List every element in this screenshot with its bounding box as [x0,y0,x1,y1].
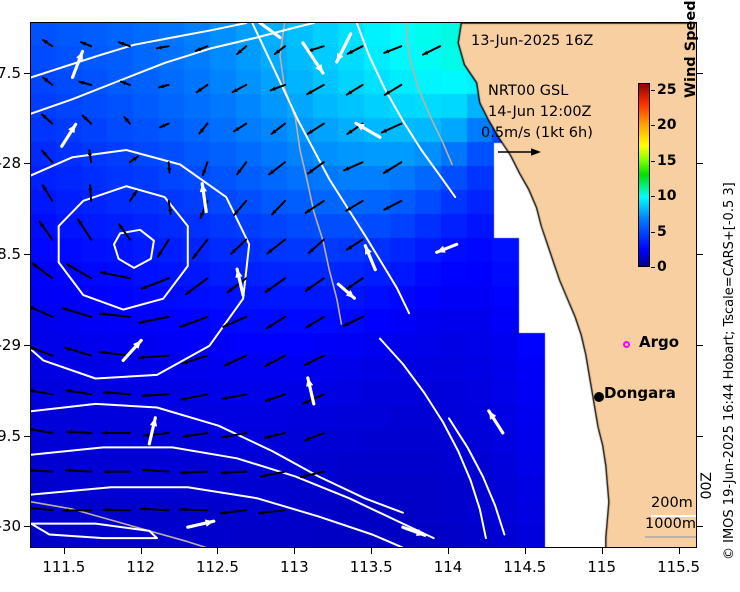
current-vector-head [143,393,148,397]
x-axis-tick-label: 114.5 [503,558,546,576]
y-axis-tick-label: -30 [0,517,21,535]
argo-marker-label: Argo [639,333,679,351]
colorbar: 0510152025 [638,83,650,267]
current-vector [31,470,52,471]
x-axis-tick-label: 113 [280,558,309,576]
current-vector-head [104,391,109,395]
ssh-contour-south [31,487,406,548]
right-axis-tick [697,345,703,346]
current-vector-head [271,87,276,91]
colorbar-tick [651,161,655,162]
current-vector-head [63,308,68,312]
colorbar-tick-label: 20 [657,117,676,133]
dongara-marker-label: Dongara [604,384,676,402]
colorbar-tick-label: 25 [657,82,676,98]
current-vector-head [139,355,144,359]
x-axis-tick [371,548,372,554]
right-axis-tick [697,163,703,164]
right-axis-clipped-label: 00Z [699,472,715,499]
current-vector-head [437,246,446,253]
x-axis-tick-label: 115 [587,558,616,576]
x-axis-tick [448,548,449,554]
ssh-contour-shelf [449,418,504,534]
depth-1000m-swatch [645,536,697,538]
current-vector [31,390,52,394]
current-vector-head [76,51,83,60]
y-axis-tick [24,73,30,74]
credit-label: © IMOS 19-Jun-2025 16:44 Hobart; Tscale=… [722,182,737,560]
dongara-marker[interactable] [594,392,604,402]
colorbar-tick [651,196,655,197]
x-axis-tick-label: 111.5 [42,558,85,576]
right-axis-tick [697,436,703,437]
colorbar-tick [651,232,655,233]
x-axis-tick [217,548,218,554]
current-vector [31,429,52,433]
x-axis-tick [525,548,526,554]
model-name-label: NRT00 GSL [488,83,568,99]
y-axis-tick [24,345,30,346]
map-overlay [31,23,697,548]
ssh-contour-shelf [380,339,486,538]
current-vector-head [103,431,108,435]
x-axis-tick-label: 114 [434,558,463,576]
current-vector-head [63,508,68,512]
current-vector-head [81,42,86,46]
x-axis-tick-label: 115.5 [657,558,700,576]
colorbar-tick [651,90,655,91]
contour-200m [357,23,455,197]
colorbar-gradient [638,83,650,267]
y-axis-tick-label: -28 [0,154,21,172]
current-vector-head [65,347,70,351]
y-axis-tick-label: -28.5 [0,245,21,263]
colorbar-tick-label: 5 [657,224,667,240]
y-axis-tick-label: -27.5 [0,64,21,82]
colorbar-tick-label: 0 [657,259,667,275]
x-axis-tick-label: 112 [126,558,155,576]
map-plot-area: 13-Jun-2025 16Z NRT00 GSL 14-Jun 12:00Z … [30,22,697,548]
ssh-contour-eddy-inner [114,230,154,268]
x-axis-tick-label: 113.5 [350,558,393,576]
colorbar-tick [651,267,655,268]
current-vector-head [180,508,185,512]
current-vector-head [121,81,126,85]
model-valid-time-label: 14-Jun 12:00Z [488,104,591,120]
depth-200m-label: 200m [651,495,693,511]
argo-marker[interactable] [623,341,630,348]
current-vector-head [105,470,110,474]
x-axis-tick [294,548,295,554]
current-vector-head [66,468,71,472]
current-vector-head [181,470,186,474]
current-vector-head [119,42,124,46]
current-vector-head [67,430,72,434]
x-axis-tick [64,548,65,554]
current-vector-head [180,323,185,327]
vector-scale-label: 0.5m/s (1kt 6h) [481,125,593,141]
x-axis-tick [141,548,142,554]
right-axis-tick [697,526,703,527]
y-axis-tick [24,163,30,164]
current-vector [31,306,52,317]
current-vector-head [266,397,271,401]
x-axis-tick-label: 112.5 [196,558,239,576]
current-vector-head [142,285,147,289]
y-axis-tick-label: -29.5 [0,427,21,445]
y-axis-tick [24,254,30,255]
current-vector-head [104,508,109,512]
colorbar-tick-label: 10 [657,188,676,204]
current-vector-head [143,468,148,472]
depth-1000m-label: 1000m [645,516,696,532]
current-vector-head [31,389,34,393]
colorbar-tick [651,125,655,126]
right-axis-tick [697,254,703,255]
y-axis-tick [24,526,30,527]
contour-200m [31,23,246,77]
ssh-contour-south [31,524,157,539]
colorbar-title: Wind Speed (access-r 3hr avg) [683,78,699,98]
y-axis-tick-label: -29 [0,336,21,354]
current-vector-head [203,170,207,175]
x-axis-tick [679,548,680,554]
current-vector-head [141,507,146,511]
colorbar-tick-label: 15 [657,153,676,169]
timestamp-label: 13-Jun-2025 16Z [471,33,593,49]
current-vector-head [222,471,227,475]
current-vector-head [31,428,34,432]
x-axis-tick [602,548,603,554]
reference-vector-arrow [497,145,543,159]
contour-1000m [280,23,341,324]
current-vector [31,508,52,511]
contour-1000m [406,23,452,165]
y-axis-tick [24,436,30,437]
current-vector-head [88,185,92,190]
